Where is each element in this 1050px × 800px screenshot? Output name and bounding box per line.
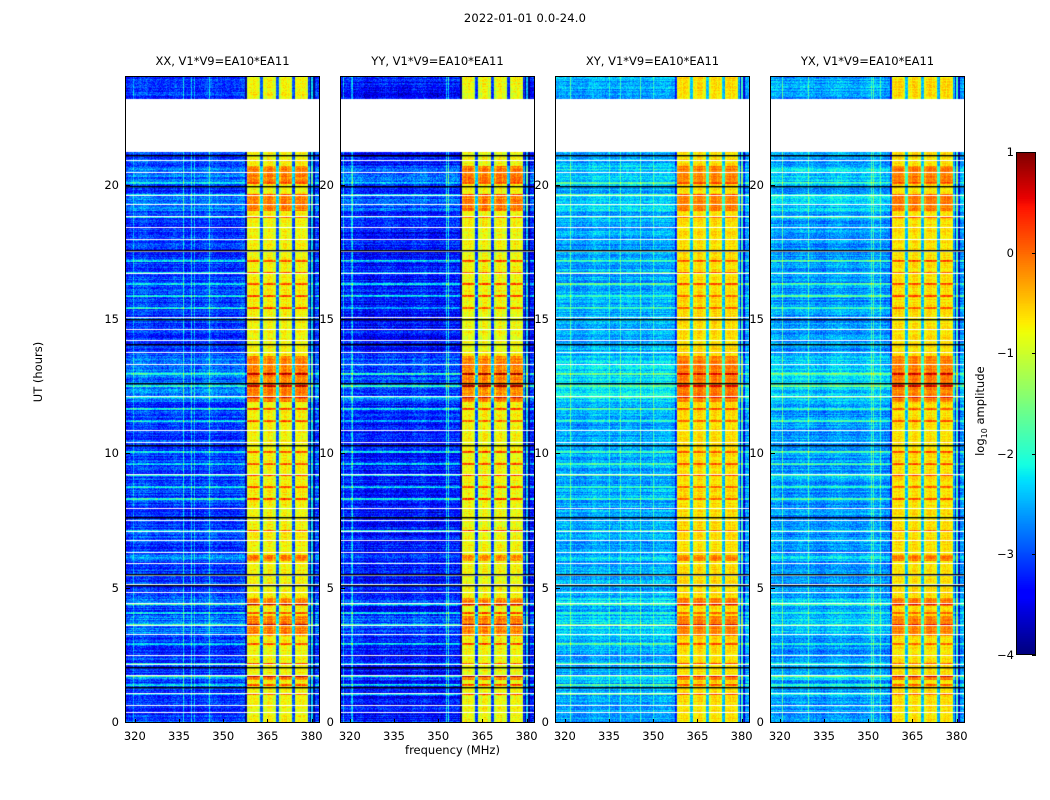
y-tick-label: 20: [89, 178, 119, 192]
x-tick-mark: [868, 719, 869, 723]
x-tick-mark: [912, 719, 913, 723]
y-tick-label: 15: [734, 312, 764, 326]
y-tick-mark: [771, 588, 775, 589]
colorbar-tick-label: −3: [996, 547, 1014, 561]
x-tick-mark: [223, 719, 224, 723]
y-tick-label: 10: [519, 446, 549, 460]
x-tick-label: 335: [374, 729, 414, 743]
colorbar-label-sub: 10: [980, 428, 989, 438]
x-tick-label: 380: [937, 729, 977, 743]
y-tick-mark: [126, 722, 130, 723]
colorbar[interactable]: [1016, 152, 1036, 655]
x-tick-mark: [394, 719, 395, 723]
x-tick-label: 335: [589, 729, 629, 743]
waterfall-panel-yy[interactable]: [340, 76, 535, 723]
x-tick-label: 365: [892, 729, 932, 743]
x-tick-mark: [565, 719, 566, 723]
figure-canvas-area: 2022-01-01 0.0-24.0 XX, V1*V9=EA10*EA11 …: [0, 0, 1050, 800]
x-tick-label: 320: [115, 729, 155, 743]
y-tick-label: 20: [519, 178, 549, 192]
colorbar-tick-mark: [1032, 554, 1036, 555]
x-tick-label: 365: [247, 729, 287, 743]
y-tick-mark: [771, 453, 775, 454]
x-tick-label: 350: [633, 729, 673, 743]
colorbar-tick-label: −2: [996, 447, 1014, 461]
colorbar-tick-mark: [1032, 353, 1036, 354]
y-tick-mark: [126, 588, 130, 589]
y-tick-label: 5: [734, 581, 764, 595]
y-tick-mark: [771, 722, 775, 723]
y-tick-label: 15: [519, 312, 549, 326]
panel-title-xx: XX, V1*V9=EA10*EA11: [125, 54, 320, 68]
y-tick-mark: [556, 319, 560, 320]
figure-suptitle: 2022-01-01 0.0-24.0: [0, 11, 1050, 25]
y-tick-label: 15: [304, 312, 334, 326]
x-tick-mark: [179, 719, 180, 723]
y-tick-mark: [556, 722, 560, 723]
x-tick-label: 350: [848, 729, 888, 743]
x-tick-label: 335: [159, 729, 199, 743]
x-tick-label: 320: [545, 729, 585, 743]
y-tick-mark: [556, 588, 560, 589]
x-tick-label: 335: [804, 729, 844, 743]
y-tick-mark: [556, 453, 560, 454]
colorbar-tick-label: 1: [996, 145, 1014, 159]
x-tick-mark: [697, 719, 698, 723]
waterfall-panel-xx[interactable]: [125, 76, 320, 723]
x-tick-mark: [135, 719, 136, 723]
x-tick-mark: [438, 719, 439, 723]
x-tick-label: 365: [462, 729, 502, 743]
panel-title-yx: YX, V1*V9=EA10*EA11: [770, 54, 965, 68]
colorbar-tick-label: 0: [996, 246, 1014, 260]
y-tick-mark: [341, 185, 345, 186]
y-tick-mark: [771, 319, 775, 320]
x-tick-label: 380: [507, 729, 547, 743]
x-tick-mark: [350, 719, 351, 723]
y-tick-mark: [556, 185, 560, 186]
y-tick-label: 20: [304, 178, 334, 192]
y-tick-mark: [126, 319, 130, 320]
x-tick-label: 350: [203, 729, 243, 743]
y-tick-label: 10: [89, 446, 119, 460]
x-tick-mark: [780, 719, 781, 723]
x-tick-mark: [482, 719, 483, 723]
y-tick-label: 0: [89, 715, 119, 729]
colorbar-tick-mark: [1032, 253, 1036, 254]
x-tick-label: 365: [677, 729, 717, 743]
x-tick-label: 320: [330, 729, 370, 743]
y-axis-label: UT (hours): [31, 312, 45, 432]
y-tick-label: 0: [519, 715, 549, 729]
colorbar-tick-mark: [1032, 655, 1036, 656]
y-tick-mark: [341, 453, 345, 454]
y-tick-mark: [771, 185, 775, 186]
y-tick-label: 10: [734, 446, 764, 460]
y-tick-label: 5: [304, 581, 334, 595]
y-tick-mark: [126, 453, 130, 454]
panel-title-yy: YY, V1*V9=EA10*EA11: [340, 54, 535, 68]
y-tick-label: 15: [89, 312, 119, 326]
y-tick-label: 0: [304, 715, 334, 729]
panel-title-xy: XY, V1*V9=EA10*EA11: [555, 54, 750, 68]
y-tick-mark: [341, 722, 345, 723]
x-tick-mark: [609, 719, 610, 723]
colorbar-label-main: log: [973, 438, 987, 456]
waterfall-panel-yx[interactable]: [770, 76, 965, 723]
x-tick-mark: [653, 719, 654, 723]
x-tick-label: 350: [418, 729, 458, 743]
colorbar-label-tail: amplitude: [973, 366, 987, 428]
y-tick-label: 5: [519, 581, 549, 595]
colorbar-tick-mark: [1032, 152, 1036, 153]
x-tick-mark: [824, 719, 825, 723]
x-tick-label: 380: [292, 729, 332, 743]
y-tick-mark: [341, 588, 345, 589]
y-tick-label: 10: [304, 446, 334, 460]
y-tick-label: 5: [89, 581, 119, 595]
x-tick-label: 320: [760, 729, 800, 743]
colorbar-tick-mark: [1032, 454, 1036, 455]
x-axis-label: frequency (MHz): [0, 743, 905, 757]
x-tick-mark: [267, 719, 268, 723]
x-tick-mark: [957, 719, 958, 723]
y-tick-mark: [126, 185, 130, 186]
waterfall-panel-xy[interactable]: [555, 76, 750, 723]
colorbar-tick-label: −4: [996, 648, 1014, 662]
y-tick-label: 0: [734, 715, 764, 729]
x-tick-label: 380: [722, 729, 762, 743]
y-tick-label: 20: [734, 178, 764, 192]
colorbar-tick-label: −1: [996, 346, 1014, 360]
y-tick-mark: [341, 319, 345, 320]
colorbar-label: log10 amplitude: [973, 341, 989, 481]
